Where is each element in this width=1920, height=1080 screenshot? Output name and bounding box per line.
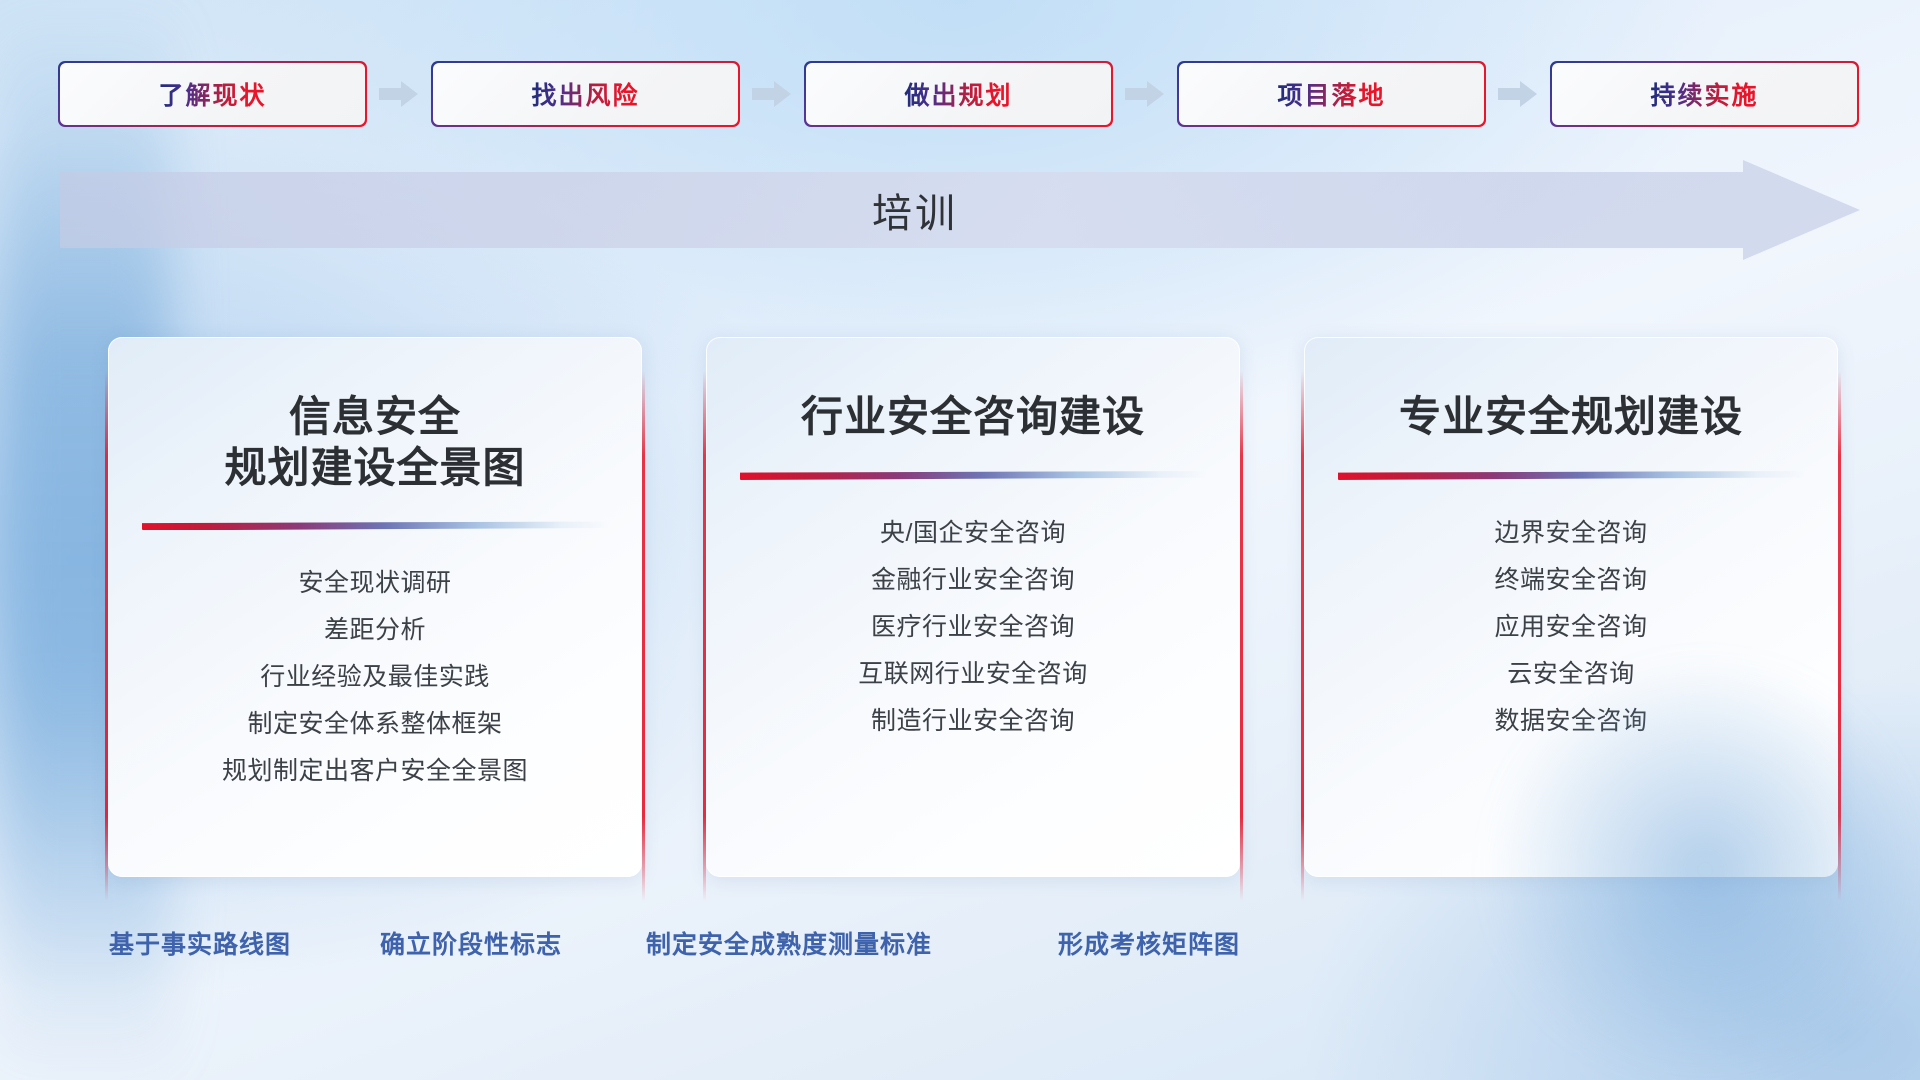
slide-canvas: 了解现状找出风险做出规划项目落地持续实施 培训 信息安全 规划建设全景图安全现状…: [0, 0, 1920, 1080]
list-item: 云安全咨询: [1338, 651, 1804, 698]
card-group: 信息安全 规划建设全景图安全现状调研差距分析行业经验及最佳实践制定安全体系整体框…: [108, 337, 1838, 877]
list-item: 制定安全体系整体框架: [142, 701, 608, 748]
list-item: 规划制定出客户安全全景图: [142, 748, 608, 795]
flow-step-2[interactable]: 找出风险: [433, 63, 738, 125]
flow-step-4[interactable]: 项目落地: [1179, 63, 1484, 125]
card-item-list: 安全现状调研差距分析行业经验及最佳实践制定安全体系整体框架规划制定出客户安全全景…: [142, 560, 608, 795]
flow-step-label: 了解现状: [158, 76, 266, 112]
right-arrow-icon: [738, 63, 806, 125]
card-title: 行业安全咨询建设: [801, 391, 1145, 443]
list-item: 差距分析: [142, 607, 608, 654]
training-banner: 培训: [60, 160, 1860, 260]
right-arrow-icon: [365, 63, 433, 125]
right-arrow-icon: [1111, 63, 1179, 125]
card-title: 专业安全规划建设: [1399, 391, 1743, 443]
service-card-2[interactable]: 行业安全咨询建设央/国企安全咨询金融行业安全咨询医疗行业安全咨询互联网行业安全咨…: [706, 337, 1240, 877]
footer-labels: 基于事实路线图确立阶段性标志制定安全成熟度测量标准形成考核矩阵图: [0, 925, 1920, 975]
list-item: 数据安全咨询: [1338, 698, 1804, 745]
list-item: 行业经验及最佳实践: [142, 654, 608, 701]
card-divider: [740, 471, 1206, 480]
footer-label-2: 确立阶段性标志: [380, 925, 562, 961]
footer-label-4: 形成考核矩阵图: [1058, 925, 1240, 961]
flow-step-label: 做出规划: [904, 76, 1012, 112]
right-arrow-icon: [1484, 63, 1552, 125]
service-card-3[interactable]: 专业安全规划建设边界安全咨询终端安全咨询应用安全咨询云安全咨询数据安全咨询: [1304, 337, 1838, 877]
banner-title: 培训: [60, 181, 1860, 239]
list-item: 央/国企安全咨询: [740, 510, 1206, 557]
flow-step-label: 持续实施: [1650, 76, 1758, 112]
process-flow: 了解现状找出风险做出规划项目落地持续实施: [60, 63, 1860, 125]
list-item: 安全现状调研: [142, 560, 608, 607]
list-item: 金融行业安全咨询: [740, 557, 1206, 604]
card-divider: [142, 521, 608, 530]
card-title: 信息安全 规划建设全景图: [224, 391, 525, 493]
list-item: 制造行业安全咨询: [740, 698, 1206, 745]
card-item-list: 央/国企安全咨询金融行业安全咨询医疗行业安全咨询互联网行业安全咨询制造行业安全咨…: [740, 510, 1206, 745]
service-card-1[interactable]: 信息安全 规划建设全景图安全现状调研差距分析行业经验及最佳实践制定安全体系整体框…: [108, 337, 642, 877]
footer-label-3: 制定安全成熟度测量标准: [646, 925, 932, 961]
list-item: 边界安全咨询: [1338, 510, 1804, 557]
footer-label-1: 基于事实路线图: [109, 925, 291, 961]
flow-step-1[interactable]: 了解现状: [60, 63, 365, 125]
flow-step-5[interactable]: 持续实施: [1552, 63, 1857, 125]
flow-step-3[interactable]: 做出规划: [806, 63, 1111, 125]
card-item-list: 边界安全咨询终端安全咨询应用安全咨询云安全咨询数据安全咨询: [1338, 510, 1804, 745]
list-item: 应用安全咨询: [1338, 604, 1804, 651]
list-item: 医疗行业安全咨询: [740, 604, 1206, 651]
flow-step-label: 项目落地: [1277, 76, 1385, 112]
card-divider: [1338, 471, 1804, 480]
list-item: 终端安全咨询: [1338, 557, 1804, 604]
flow-step-label: 找出风险: [531, 76, 639, 112]
list-item: 互联网行业安全咨询: [740, 651, 1206, 698]
